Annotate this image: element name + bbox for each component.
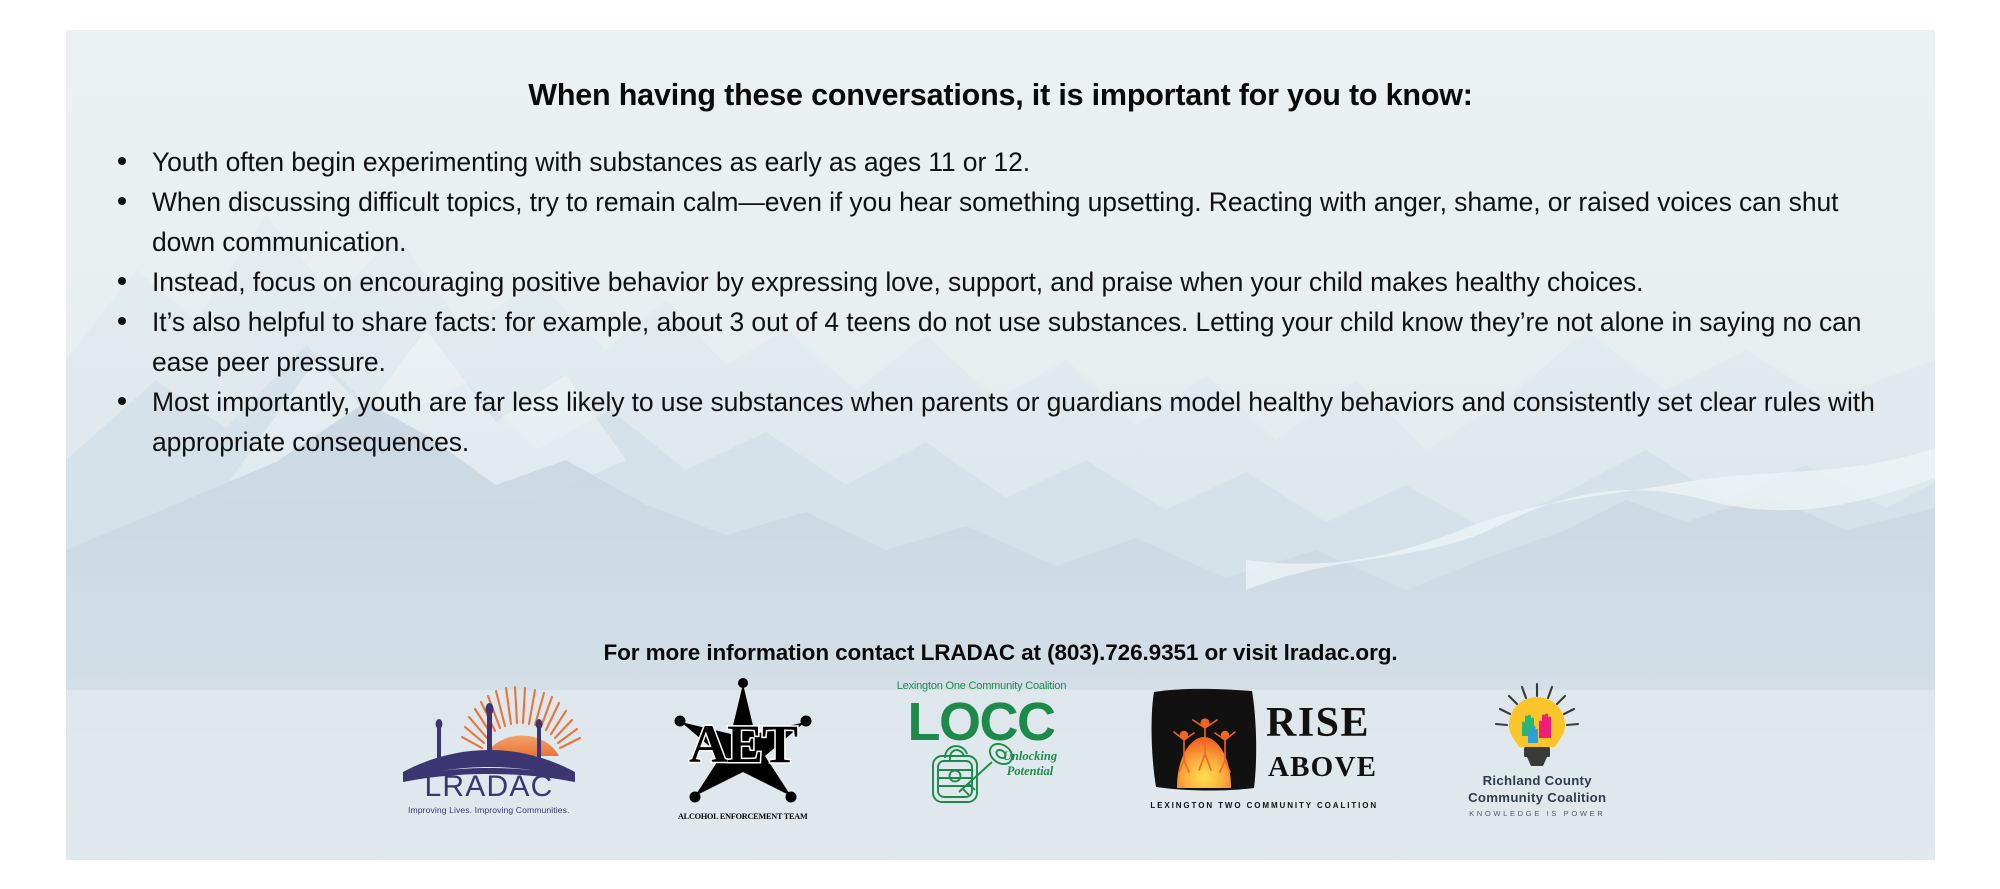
list-item-text: It’s also helpful to share facts: for ex… xyxy=(152,307,1861,377)
logo-locc-header: Lexington One Community Coalition xyxy=(897,680,1067,692)
bullet-dot-icon xyxy=(118,197,126,205)
list-item-text: Most importantly, youth are far less lik… xyxy=(152,387,1875,457)
list-item: Instead, focus on encouraging positive b… xyxy=(118,262,1899,302)
list-item-text: Instead, focus on encouraging positive b… xyxy=(152,267,1643,297)
card-content: When having these conversations, it is i… xyxy=(66,30,1935,860)
logo-richland-line1: Richland County xyxy=(1462,773,1612,790)
list-item: Youth often begin experimenting with sub… xyxy=(118,142,1899,182)
logo-lradac: LRADAC Improving Lives. Improving Commun… xyxy=(389,678,589,815)
bullet-dot-icon xyxy=(118,277,126,285)
partner-logo-row: LRADAC Improving Lives. Improving Commun… xyxy=(66,678,1935,838)
svg-text:Unlocking: Unlocking xyxy=(1003,749,1057,763)
bullet-dot-icon xyxy=(118,397,126,405)
page-title: When having these conversations, it is i… xyxy=(66,30,1935,113)
bullet-dot-icon xyxy=(118,157,126,165)
logo-richland-line2: Community Coalition xyxy=(1462,790,1612,807)
rise-wordmark-line2: ABOVE IT xyxy=(1268,751,1384,783)
logo-rise-tagline: LEXINGTON TWO COMMUNITY COALITION xyxy=(1144,801,1384,810)
list-item: Most importantly, youth are far less lik… xyxy=(118,382,1899,462)
list-item: It’s also helpful to share facts: for ex… xyxy=(118,302,1899,382)
logo-locc: Lexington One Community Coalition LOCC xyxy=(897,678,1067,804)
list-item: When discussing difficult topics, try to… xyxy=(118,182,1899,262)
logo-rise-wordmark-2: ABOVE IT xyxy=(1144,810,1145,811)
svg-text:Potential: Potential xyxy=(1006,764,1053,778)
logo-lradac-tagline: Improving Lives. Improving Communities. xyxy=(389,805,589,815)
logo-locc-wordmark: LOCC xyxy=(897,804,898,805)
logo-rise-above-it: RISE ABOVE IT LEXINGTON TWO COMMUNITY CO… xyxy=(1144,678,1384,810)
list-item-text: Youth often begin experimenting with sub… xyxy=(152,147,1030,177)
svg-text:LOCC: LOCC xyxy=(907,692,1054,752)
logo-locc-tagline: Unlocking Potential xyxy=(897,804,898,805)
contact-information: For more information contact LRADAC at (… xyxy=(66,640,1935,666)
logo-rise-wordmark-1: RISE xyxy=(1144,810,1145,811)
infographic-card: When having these conversations, it is i… xyxy=(66,30,1935,860)
svg-text:LRADAC: LRADAC xyxy=(424,770,553,803)
key-points-list: Youth often begin experimenting with sub… xyxy=(118,142,1899,462)
logo-aet: AET ALCOHOL ENFORCEMENT TEAM AET xyxy=(667,678,819,821)
svg-text:AET: AET xyxy=(689,714,798,774)
logo-aet-tagline: ALCOHOL ENFORCEMENT TEAM xyxy=(667,812,819,821)
bullet-dot-icon xyxy=(118,317,126,325)
list-item-text: When discussing difficult topics, try to… xyxy=(152,187,1838,257)
logo-richland-county: Richland County Community Coalition KNOW… xyxy=(1462,678,1612,818)
logo-richland-tagline: KNOWLEDGE IS POWER xyxy=(1462,809,1612,818)
logo-lradac-wordmark: LRADAC xyxy=(389,815,390,816)
logo-aet-wordmark: AET xyxy=(667,821,668,822)
rise-wordmark-line1: RISE xyxy=(1266,700,1370,746)
